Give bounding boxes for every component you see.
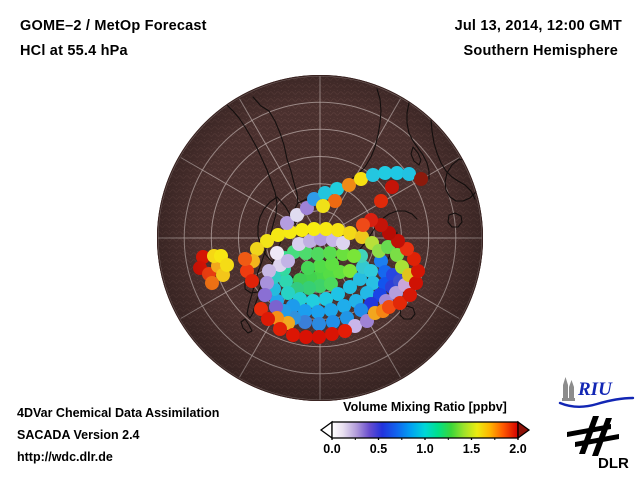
colorbar-tick-3: 1.5 [463,442,480,456]
colorbar-title: Volume Mixing Ratio [ppbv] [305,400,545,414]
hemisphere-label: Southern Hemisphere [302,39,622,64]
colorbar-graphic [305,420,545,440]
dlr-logo-svg: DLR [565,414,637,472]
colorbar-block: Volume Mixing Ratio [ppbv] [305,400,545,460]
colorbar-tick-labels: 0.0 0.5 1.0 1.5 2.0 [305,442,545,460]
colorbar-gradient-bar [332,422,518,438]
colorbar-under-arrow [321,422,332,438]
riu-wordmark: RIU [577,379,613,400]
dlr-logo: DLR [565,414,637,472]
colorbar-tick-1: 0.5 [370,442,387,456]
dlr-mark-icon [567,416,619,456]
riu-logo-svg: RIU [557,374,637,408]
colorbar-tick-0: 0.0 [323,442,340,456]
header-left-block: GOME–2 / MetOp Forecast HCl at 55.4 hPa [20,14,320,64]
dlr-wordmark: DLR [598,455,629,472]
polar-projection-map [157,75,483,401]
instrument-title: GOME–2 / MetOp Forecast [20,14,320,39]
colorbar-svg [305,420,545,440]
riu-spires-icon [562,377,575,401]
colorbar-tick-4: 2.0 [509,442,526,456]
species-level-subtitle: HCl at 55.4 hPa [20,39,320,64]
colorbar-tick-2: 1.0 [416,442,433,456]
website-url: http://wdc.dlr.de [17,446,307,468]
version-label: SACADA Version 2.4 [17,424,307,446]
colorbar-over-arrow [518,422,529,438]
method-label: 4DVar Chemical Data Assimilation [17,402,307,424]
header-right-block: Jul 13, 2014, 12:00 GMT Southern Hemisph… [302,14,622,64]
globe-svg [157,75,483,401]
footer-info-block: 4DVar Chemical Data Assimilation SACADA … [17,402,307,468]
datetime-label: Jul 13, 2014, 12:00 GMT [302,14,622,39]
riu-logo: RIU [557,374,637,408]
